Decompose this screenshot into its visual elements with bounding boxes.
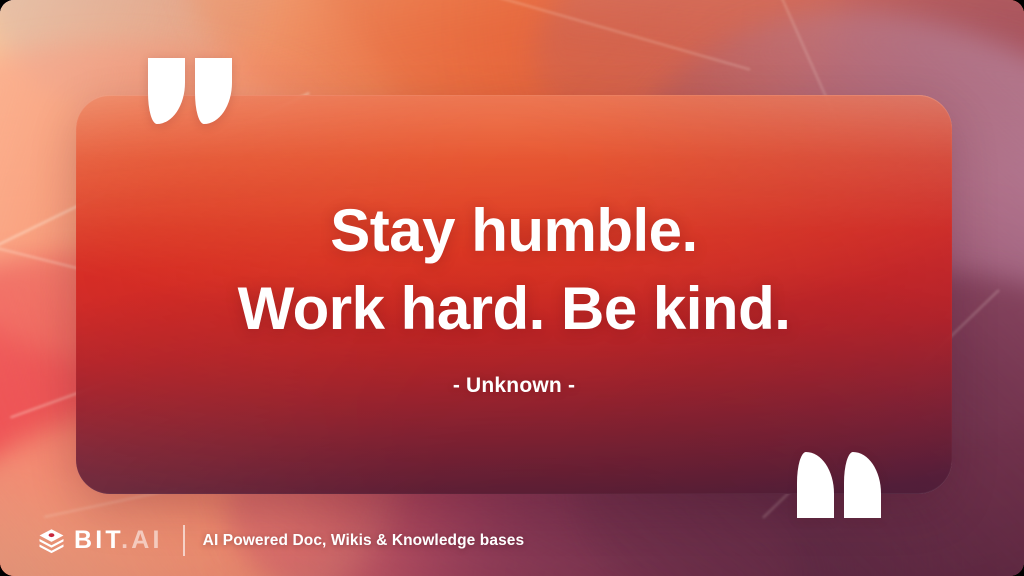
- brand-suffix: .AI: [121, 526, 163, 554]
- footer-branding: BIT.AI AI Powered Doc, Wikis & Knowledge…: [38, 525, 524, 556]
- stacked-layers-logo-icon: [38, 527, 65, 554]
- quote-attribution: - Unknown -: [453, 374, 575, 398]
- brand-name: BIT: [74, 526, 121, 554]
- quote-card-canvas: Stay humble. Work hard. Be kind. - Unkno…: [0, 0, 1024, 576]
- footer-divider: [183, 525, 185, 556]
- brand-lockup[interactable]: BIT.AI: [38, 527, 163, 554]
- quote-text: Stay humble. Work hard. Be kind.: [238, 192, 791, 348]
- brand-wordmark: BIT.AI: [74, 528, 163, 553]
- quote-content: Stay humble. Work hard. Be kind. - Unkno…: [76, 95, 952, 494]
- brand-tagline: AI Powered Doc, Wikis & Knowledge bases: [203, 532, 525, 550]
